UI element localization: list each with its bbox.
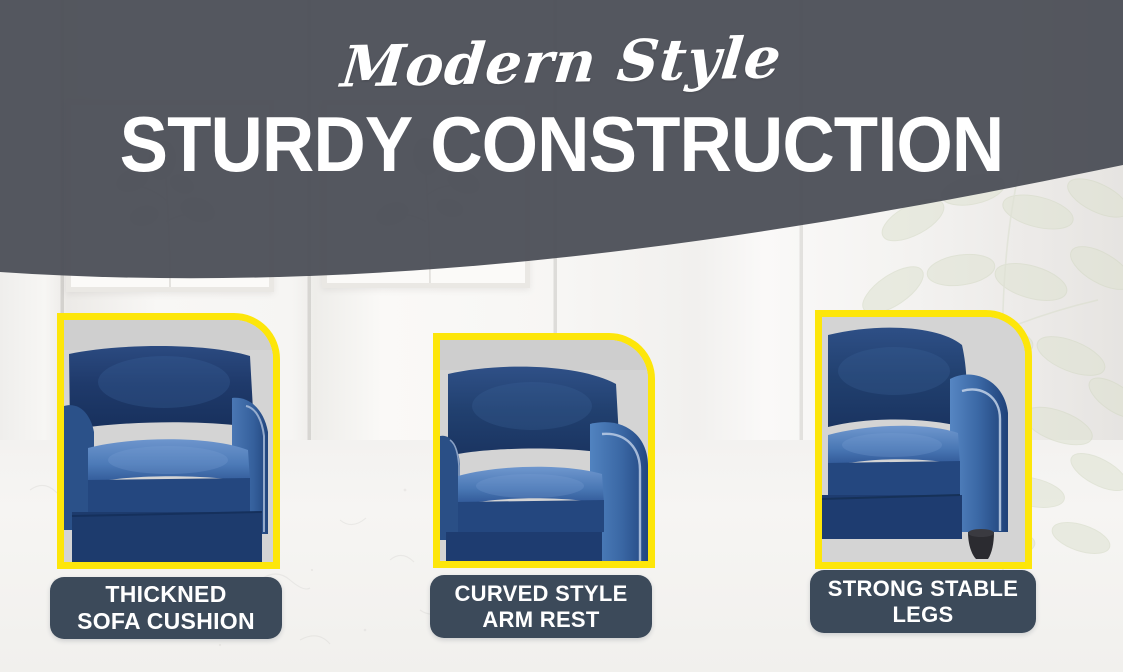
feature-caption-badge: CURVED STYLE ARM REST — [430, 575, 652, 638]
product-feature-banner: Modern Style STURDY CONSTRUCTION — [0, 0, 1123, 672]
feature-photo-frame — [57, 313, 280, 569]
sofa-legs-photo — [822, 317, 1025, 562]
page-title: STURDY CONSTRUCTION — [39, 105, 1083, 183]
feature-photo-frame — [433, 333, 655, 568]
feature-caption-badge: THICKNED SOFA CUSHION — [50, 577, 282, 639]
caption-line-2: ARM REST — [454, 607, 627, 633]
feature-caption-badge: STRONG STABLE LEGS — [810, 570, 1036, 633]
caption-line-1: THICKNED — [77, 581, 255, 608]
arm-rest-photo — [440, 340, 648, 561]
caption-line-1: CURVED STYLE — [454, 581, 627, 607]
sofa-cushion-photo — [64, 320, 273, 562]
header-text-block: Modern Style STURDY CONSTRUCTION — [0, 0, 1123, 183]
caption-line-2: SOFA CUSHION — [77, 608, 255, 635]
caption-line-2: LEGS — [828, 602, 1019, 628]
caption-line-1: STRONG STABLE — [828, 576, 1019, 602]
feature-photo-frame — [815, 310, 1032, 569]
script-title: Modern Style — [0, 22, 1123, 103]
